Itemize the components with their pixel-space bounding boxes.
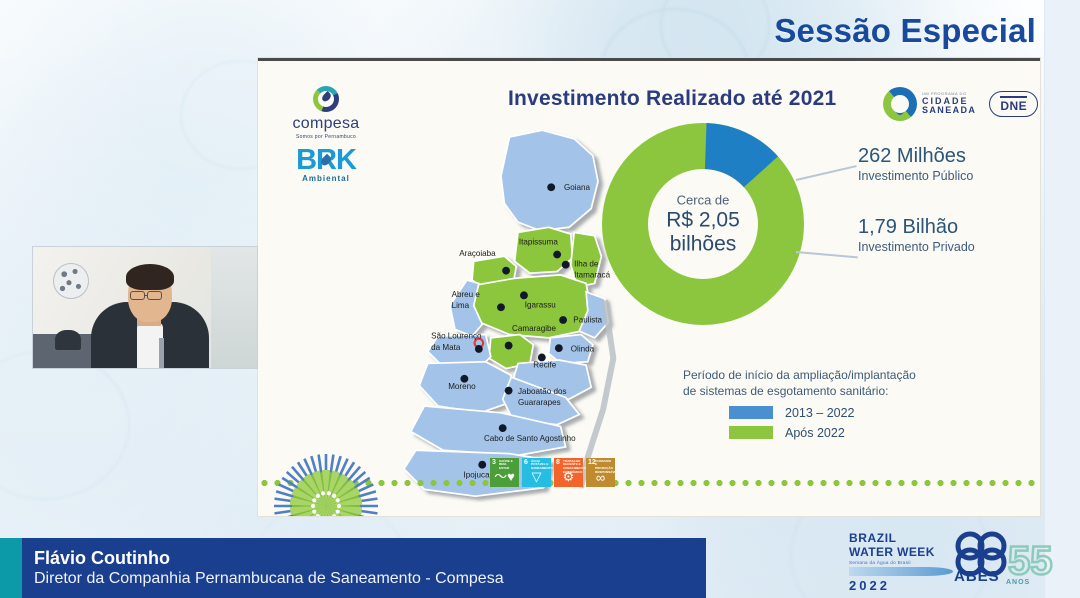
- sdg-number: 8: [556, 459, 560, 466]
- bww-swoosh-icon: [849, 567, 953, 576]
- callout-public-investment: 262 Milhões Investimento Público: [858, 145, 973, 183]
- city-label: Camaragibe: [512, 324, 557, 333]
- city-label: Ipojuca: [464, 470, 491, 479]
- city-label: Ilha de: [574, 259, 599, 268]
- legend-swatch-blue: [729, 406, 773, 419]
- sdg-icon-row: 3SAÚDE E BEM-ESTAR〜♥6ÁGUA POTÁVEL E SANE…: [490, 458, 615, 487]
- donut-prefix: Cerca de: [644, 192, 762, 207]
- sunburst-dot: [316, 494, 320, 498]
- donut-total-line2: bilhões: [644, 232, 762, 256]
- eyeglasses-left-icon: [130, 291, 145, 300]
- sunburst-dot: [337, 504, 341, 508]
- abes-logo: 55 ABES ANOS: [950, 530, 1068, 592]
- city-label: Guararapes: [518, 398, 561, 407]
- eyeglasses-bridge-icon: [145, 295, 148, 296]
- sunburst-dot: [311, 504, 315, 508]
- lower-third-name-bar: Flávio Coutinho Diretor da Companhia Per…: [0, 538, 706, 598]
- city-label: Moreno: [448, 382, 476, 391]
- speaker-hair: [126, 264, 174, 290]
- city-dot: [555, 344, 563, 352]
- page-header: Sessão Especial: [0, 0, 1080, 62]
- sunburst-dot: [336, 498, 340, 502]
- speaker-role: Diretor da Companhia Pernambucana de San…: [34, 569, 504, 588]
- cidade-saneada-text: UM PROGRAMA DO CIDADE SANEADA: [922, 92, 976, 115]
- session-title: Sessão Especial: [774, 12, 1036, 50]
- sunburst-dot: [327, 491, 331, 495]
- city-dot: [559, 316, 567, 324]
- city-dot: [505, 387, 513, 395]
- donut-total-value: R$ 2,05 bilhões: [644, 208, 762, 255]
- sdg-number: 6: [524, 459, 528, 466]
- cidade-saneada-swirl-icon: [883, 87, 917, 121]
- callout-private-label: Investimento Privado: [858, 240, 975, 254]
- legend-swatch-green: [729, 426, 773, 439]
- city-dot: [505, 342, 513, 350]
- compesa-droplet-icon: [313, 86, 339, 112]
- municipality-goiana: [501, 130, 598, 230]
- callout-private-value: 1,79 Bilhão: [858, 216, 975, 239]
- city-label: da Mata: [431, 343, 461, 352]
- legend-item-apos-2022: Após 2022: [683, 426, 1013, 440]
- abes-anos-label: ANOS: [1006, 579, 1030, 586]
- city-label: Igarassu: [525, 300, 556, 309]
- sdg-icon-12: 12CONSUMO E PRODUÇÃO RESPONSÁVEIS∞: [586, 458, 615, 487]
- sdg-glyph: ▽: [522, 469, 551, 485]
- city-label: São Lourenço: [431, 332, 482, 341]
- eyeglasses-right-icon: [147, 291, 162, 300]
- sdg-glyph: 〜♥: [490, 466, 519, 485]
- cidade-saneada-line2: SANEADA: [922, 106, 976, 115]
- sdg-number: 3: [492, 459, 496, 466]
- city-label: Jaboatão dos: [518, 387, 567, 396]
- sdg-icon-8: 8TRABALHO DECENTE E CRESCIMENTO ECONÔMIC…: [554, 458, 583, 487]
- wall-art-icon: [53, 263, 89, 299]
- video-background-door: [211, 247, 257, 368]
- callout-private-investment: 1,79 Bilhão Investimento Privado: [858, 216, 975, 254]
- sunburst-dot: [321, 491, 325, 495]
- legend-label-2013-2022: 2013 – 2022: [785, 406, 855, 420]
- city-label: Cabo de Santo Agostinho: [484, 434, 576, 443]
- legend-title-line1: Período de início da ampliação/implantaç…: [683, 368, 1013, 384]
- city-dot: [547, 183, 555, 191]
- legend-item-2013-2022: 2013 – 2022: [683, 406, 1013, 420]
- abes-wordmark: ABES: [954, 568, 1000, 585]
- sunburst-decoration: [270, 436, 382, 516]
- donut-center-label: Cerca de R$ 2,05 bilhões: [644, 192, 762, 255]
- city-label: Recife: [533, 361, 556, 370]
- brk-wordmark: BRK: [278, 146, 374, 175]
- bww-year: 2022: [849, 578, 961, 593]
- bww-subtitle: Semana da Água do Brasil: [849, 560, 961, 565]
- city-dot: [499, 424, 507, 432]
- sdg-glyph: ⚙: [554, 469, 583, 485]
- city-dot: [497, 303, 505, 311]
- legend-label-apos-2022: Após 2022: [785, 426, 845, 440]
- brk-logo: BRK Ambiental: [278, 146, 374, 183]
- compesa-logo: compesa Somos por Pernambuco: [276, 86, 376, 140]
- name-bar-text: Flávio Coutinho Diretor da Companhia Per…: [22, 548, 504, 588]
- speaker-video-tile[interactable]: [33, 247, 257, 368]
- sdg-glyph: ∞: [586, 470, 615, 485]
- legend-title-line2: de sistemas de esgotamento sanitário:: [683, 384, 1013, 400]
- brazil-water-week-logo: BRAZIL WATER WEEK Semana da Água do Bras…: [849, 531, 961, 593]
- speaker-name: Flávio Coutinho: [34, 548, 504, 569]
- city-label: Olinda: [571, 345, 595, 354]
- sdg-icon-6: 6ÁGUA POTÁVEL E SANEAMENTO▽: [522, 458, 551, 487]
- dne-logo: DNE: [989, 91, 1038, 117]
- sunburst-dot: [312, 510, 316, 514]
- city-dot: [562, 261, 570, 269]
- city-dot: [478, 461, 486, 469]
- city-label: Goiana: [564, 183, 591, 192]
- bubble-wisp: [0, 350, 130, 500]
- city-dot: [553, 251, 561, 259]
- city-label: Araçoiaba: [459, 249, 496, 258]
- city-label: Abreu e: [452, 290, 481, 299]
- investment-donut-chart: Cerca de R$ 2,05 bilhões: [598, 119, 808, 329]
- compesa-tagline: Somos por Pernambuco: [276, 134, 376, 140]
- sunburst-dot: [332, 494, 336, 498]
- compesa-wordmark: compesa: [276, 115, 376, 133]
- sunburst-dot: [336, 510, 340, 514]
- bww-line2: WATER WEEK: [849, 545, 961, 559]
- city-label: Lima: [452, 301, 470, 310]
- abes-55-years: 55: [1008, 539, 1053, 583]
- right-gutter: [1044, 0, 1080, 598]
- chart-legend: Período de início da ampliação/implantaç…: [683, 368, 1013, 440]
- sunburst-svg: [270, 436, 382, 516]
- speaker-lanyard: [159, 338, 164, 368]
- legend-title: Período de início da ampliação/implantaç…: [683, 368, 1013, 400]
- city-dot: [475, 345, 483, 353]
- city-dot: [520, 291, 528, 299]
- donut-total-line1: R$ 2,05: [644, 208, 762, 232]
- callout-public-value: 262 Milhões: [858, 145, 973, 168]
- callout-public-label: Investimento Público: [858, 169, 973, 183]
- bww-line1: BRAZIL: [849, 531, 961, 545]
- sunburst-dot: [312, 498, 316, 502]
- cidade-saneada-logo: UM PROGRAMA DO CIDADE SANEADA DNE: [883, 87, 1038, 121]
- presentation-slide: compesa Somos por Pernambuco BRK Ambient…: [258, 58, 1040, 516]
- sdg-icon-3: 3SAÚDE E BEM-ESTAR〜♥: [490, 458, 519, 487]
- name-bar-accent: [0, 538, 22, 598]
- city-label: Itapissuma: [519, 237, 559, 246]
- city-dot: [502, 267, 510, 275]
- microphone-icon: [55, 330, 81, 350]
